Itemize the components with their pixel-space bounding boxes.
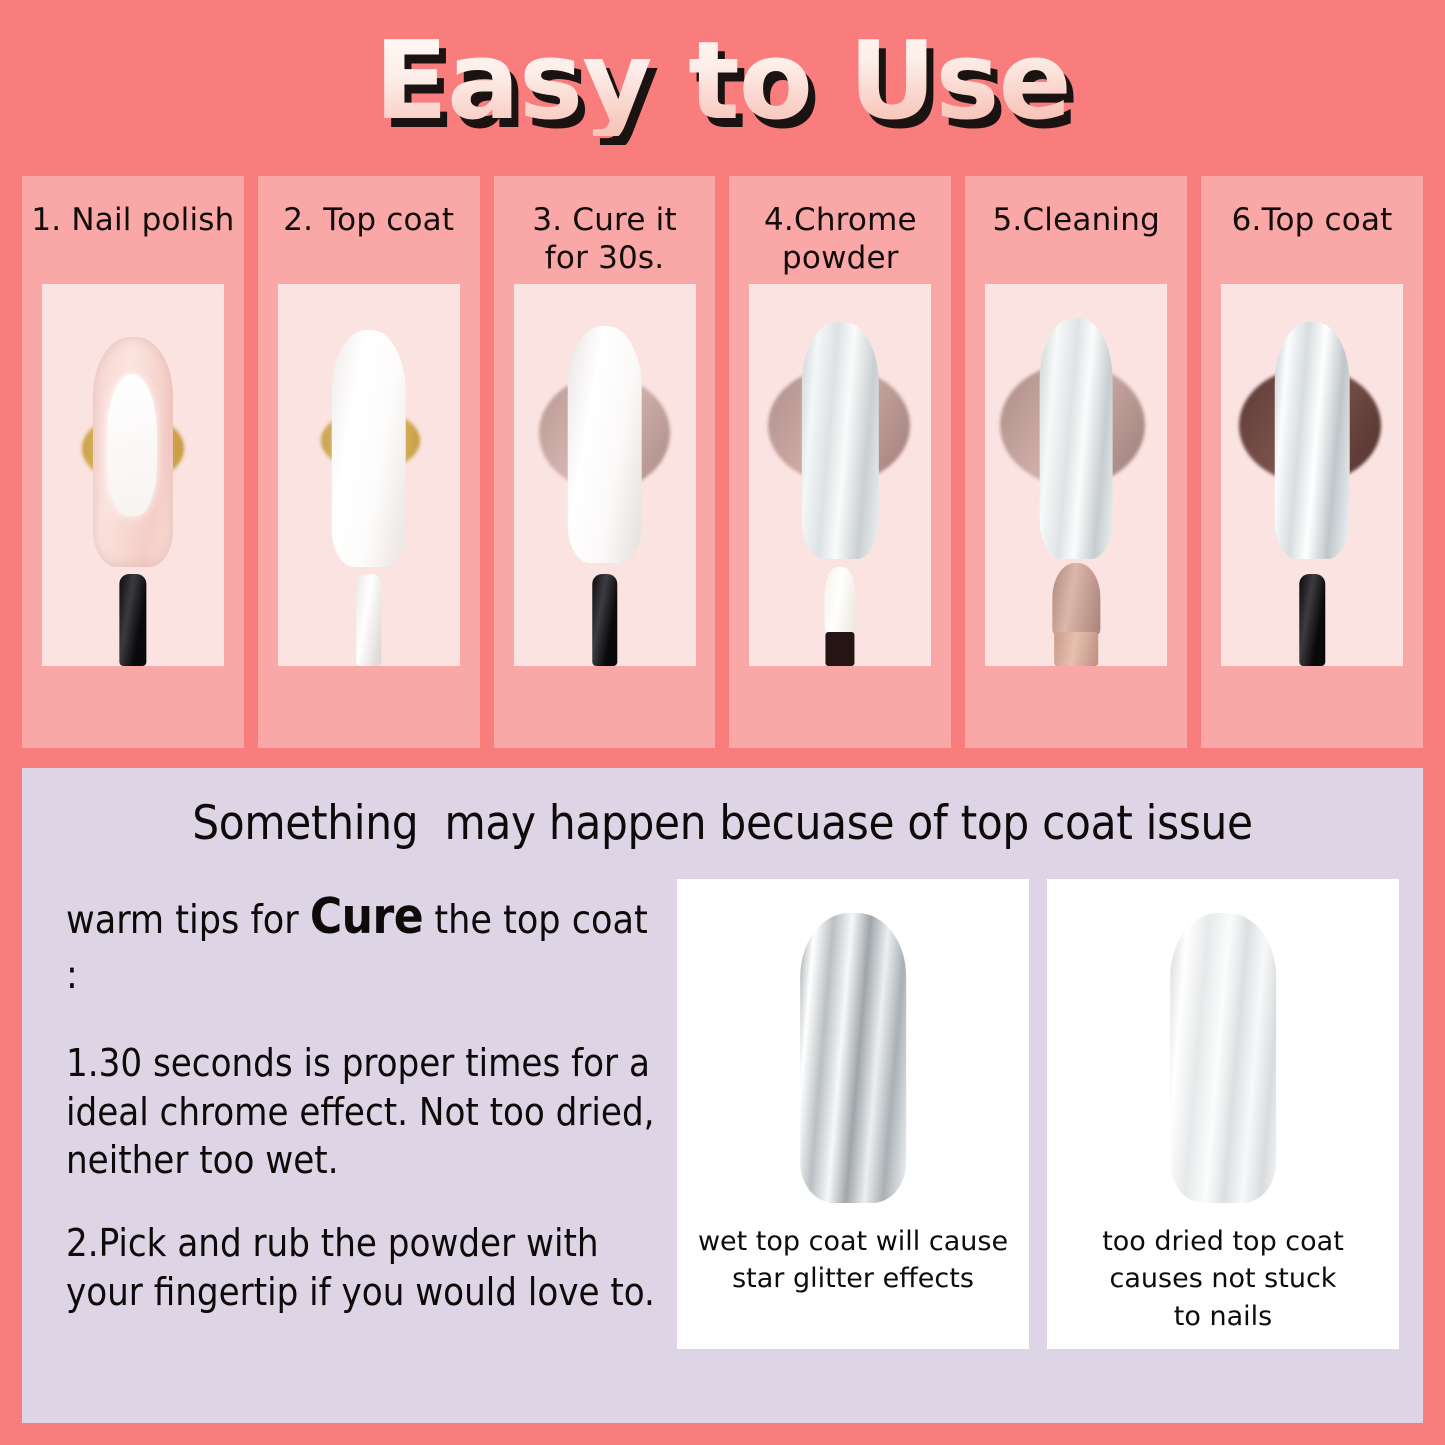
title-banner: Easy to Use <box>0 22 1445 142</box>
step-card-4: 4.Chrome powder <box>729 176 951 748</box>
step-card-1: 1. Nail polish <box>22 176 244 748</box>
brush-image-3 <box>592 574 617 666</box>
tip-item-2: 2.Pick and rub the powder with your fing… <box>66 1219 659 1316</box>
step-label-6: 6.Top coat <box>1226 202 1399 278</box>
page-title: Easy to Use <box>374 28 1071 136</box>
comparison-card-wet: wet top coat will cause star glitter eff… <box>677 879 1029 1349</box>
nail-image-4 <box>802 322 878 559</box>
top-coat-issue-panel: Something may happen becuase of top coat… <box>22 768 1423 1423</box>
brush-image-1 <box>119 574 146 666</box>
brush-image-2 <box>356 574 381 666</box>
brush-image-6 <box>1299 574 1324 666</box>
step-photo-2 <box>278 284 460 666</box>
comparison-photo-wet <box>677 893 1029 1223</box>
comparison-caption-dried: too dried top coat causes not stuck to n… <box>1088 1223 1358 1335</box>
nail-image-6 <box>1275 322 1350 559</box>
tip-item-1: 1.30 seconds is proper times for a ideal… <box>66 1039 659 1185</box>
applicator-handle-icon <box>826 632 855 666</box>
step-photo-3 <box>514 284 696 666</box>
panel-heading: Something may happen becuase of top coat… <box>22 768 1423 851</box>
step-label-1: 1. Nail polish <box>25 202 240 278</box>
step-label-3: 3. Cure it for 30s. <box>526 202 682 278</box>
step-label-2: 2. Top coat <box>277 202 460 278</box>
nail-image-5 <box>1040 318 1113 559</box>
comparison-caption-wet: wet top coat will cause star glitter eff… <box>684 1223 1022 1298</box>
infographic-page: Easy to Use 1. Nail polish 2. Top coat 3… <box>0 0 1445 1445</box>
nail-image-1 <box>93 337 173 566</box>
comparison-photo-dried <box>1047 893 1399 1223</box>
comparison-row: wet top coat will cause star glitter eff… <box>677 879 1399 1350</box>
brush-ferrule-icon <box>1054 632 1098 666</box>
step-card-2: 2. Top coat <box>258 176 480 748</box>
tips-lead-strong: Cure <box>310 888 423 945</box>
step-card-6: 6.Top coat <box>1201 176 1423 748</box>
nail-image-2 <box>331 330 406 567</box>
nail-image-3 <box>567 326 642 563</box>
steps-row: 1. Nail polish 2. Top coat 3. Cure it fo… <box>22 176 1423 748</box>
tips-column: warm tips for Cure the top coat : 1.30 s… <box>66 885 659 1350</box>
tips-lead-before: warm tips for <box>66 898 310 943</box>
step-photo-5 <box>985 284 1167 666</box>
step-photo-6 <box>1221 284 1403 666</box>
tips-lead: warm tips for Cure the top coat : <box>66 885 659 1001</box>
step-label-4: 4.Chrome powder <box>758 202 923 278</box>
nail-image-wet-topcoat <box>800 913 906 1203</box>
cleaning-brush-image <box>1053 563 1100 636</box>
step-label-5: 5.Cleaning <box>986 202 1166 278</box>
step-photo-1 <box>42 284 224 666</box>
sponge-applicator-image <box>825 567 856 636</box>
step-card-3: 3. Cure it for 30s. <box>494 176 716 748</box>
step-photo-4 <box>749 284 931 666</box>
nail-image-dried-topcoat <box>1170 913 1276 1203</box>
panel-body: warm tips for Cure the top coat : 1.30 s… <box>22 851 1423 1350</box>
comparison-card-dried: too dried top coat causes not stuck to n… <box>1047 879 1399 1349</box>
step-card-5: 5.Cleaning <box>965 176 1187 748</box>
